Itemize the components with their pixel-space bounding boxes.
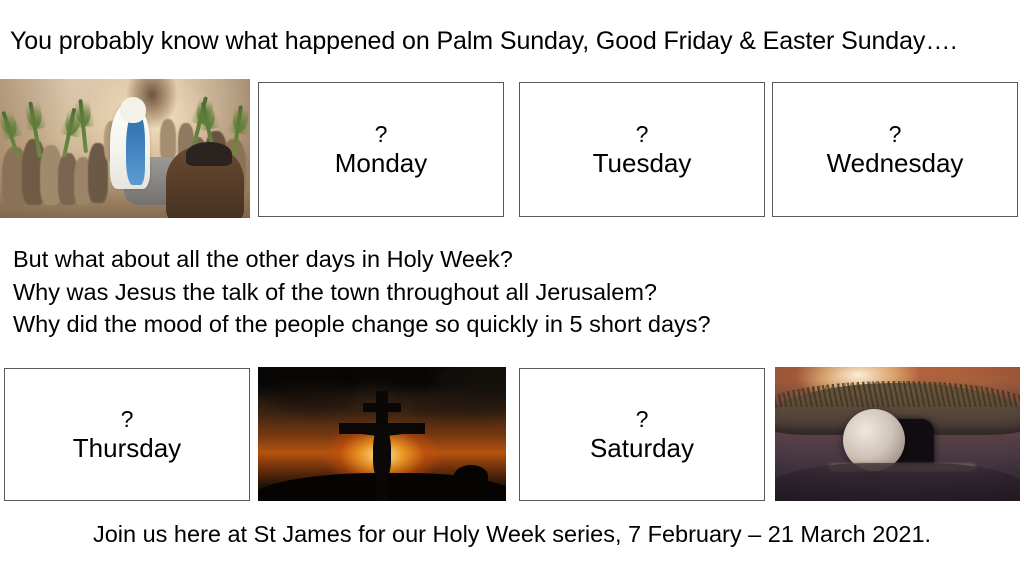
question-line-2: Why was Jesus the talk of the town throu… bbox=[13, 276, 711, 309]
day-card-monday[interactable]: ? Monday bbox=[258, 82, 504, 217]
day-card-thursday[interactable]: ? Thursday bbox=[4, 368, 250, 501]
jesus-head-shape bbox=[120, 97, 146, 123]
question-line-3: Why did the mood of the people change so… bbox=[13, 308, 711, 341]
day-label: Monday bbox=[335, 148, 428, 179]
day-label: Tuesday bbox=[593, 148, 692, 179]
question-mark: ? bbox=[375, 121, 388, 148]
vignette-overlay bbox=[775, 367, 1020, 501]
day-card-wednesday[interactable]: ? Wednesday bbox=[772, 82, 1018, 217]
day-card-tuesday[interactable]: ? Tuesday bbox=[519, 82, 765, 217]
figure-body-shape bbox=[373, 427, 391, 479]
palm-sunday-image bbox=[0, 79, 250, 218]
day-label: Wednesday bbox=[827, 148, 964, 179]
day-label: Saturday bbox=[590, 433, 694, 464]
good-friday-image bbox=[258, 367, 506, 501]
footer-invitation: Join us here at St James for our Holy We… bbox=[0, 521, 1024, 548]
day-label: Thursday bbox=[73, 433, 181, 464]
question-block: But what about all the other days in Hol… bbox=[13, 243, 711, 341]
question-mark: ? bbox=[121, 406, 134, 433]
easter-sunday-image bbox=[775, 367, 1020, 501]
foreground-figure-cap-shape bbox=[186, 142, 232, 166]
question-mark: ? bbox=[636, 406, 649, 433]
question-mark: ? bbox=[889, 121, 902, 148]
cross-titulus-shape bbox=[363, 403, 401, 412]
day-card-saturday[interactable]: ? Saturday bbox=[519, 368, 765, 501]
page-title: You probably know what happened on Palm … bbox=[10, 26, 957, 56]
question-mark: ? bbox=[636, 121, 649, 148]
question-line-1: But what about all the other days in Hol… bbox=[13, 243, 711, 276]
tree-shape bbox=[454, 465, 488, 487]
